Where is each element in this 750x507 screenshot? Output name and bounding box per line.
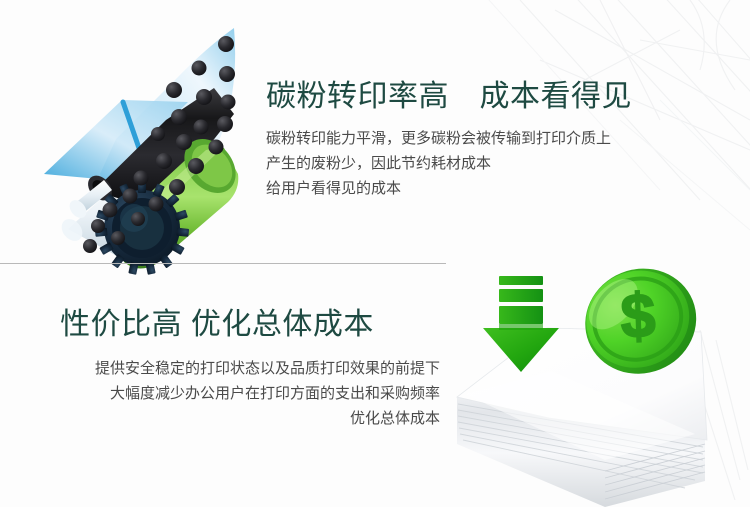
svg-text:$: $ bbox=[620, 281, 657, 351]
promo-page: 碳粉转印率高 成本看得见 碳粉转印能力平滑，更多碳粉会被传输到打印介质上 产生的… bbox=[0, 0, 750, 507]
toner-drum-transfer-illustration bbox=[38, 14, 278, 276]
section2-body: 提供安全稳定的打印状态以及品质打印效果的前提下 大幅度减少办公用户在打印方面的支… bbox=[0, 356, 442, 431]
cost-down-money-paper-illustration: $ bbox=[455, 268, 750, 507]
section1-text-block: 碳粉转印率高 成本看得见 碳粉转印能力平滑，更多碳粉会被传输到打印介质上 产生的… bbox=[266, 78, 666, 201]
section1-heading: 碳粉转印率高 成本看得见 bbox=[266, 78, 666, 116]
section2-text-block: 性价比高 优化总体成本 提供安全稳定的打印状态以及品质打印效果的前提下 大幅度减… bbox=[0, 306, 442, 431]
section2-heading: 性价比高 优化总体成本 bbox=[0, 306, 442, 344]
section1-body: 碳粉转印能力平滑，更多碳粉会被传输到打印介质上 产生的废粉少，因此节约耗材成本 … bbox=[266, 126, 666, 201]
section-divider bbox=[0, 263, 446, 264]
